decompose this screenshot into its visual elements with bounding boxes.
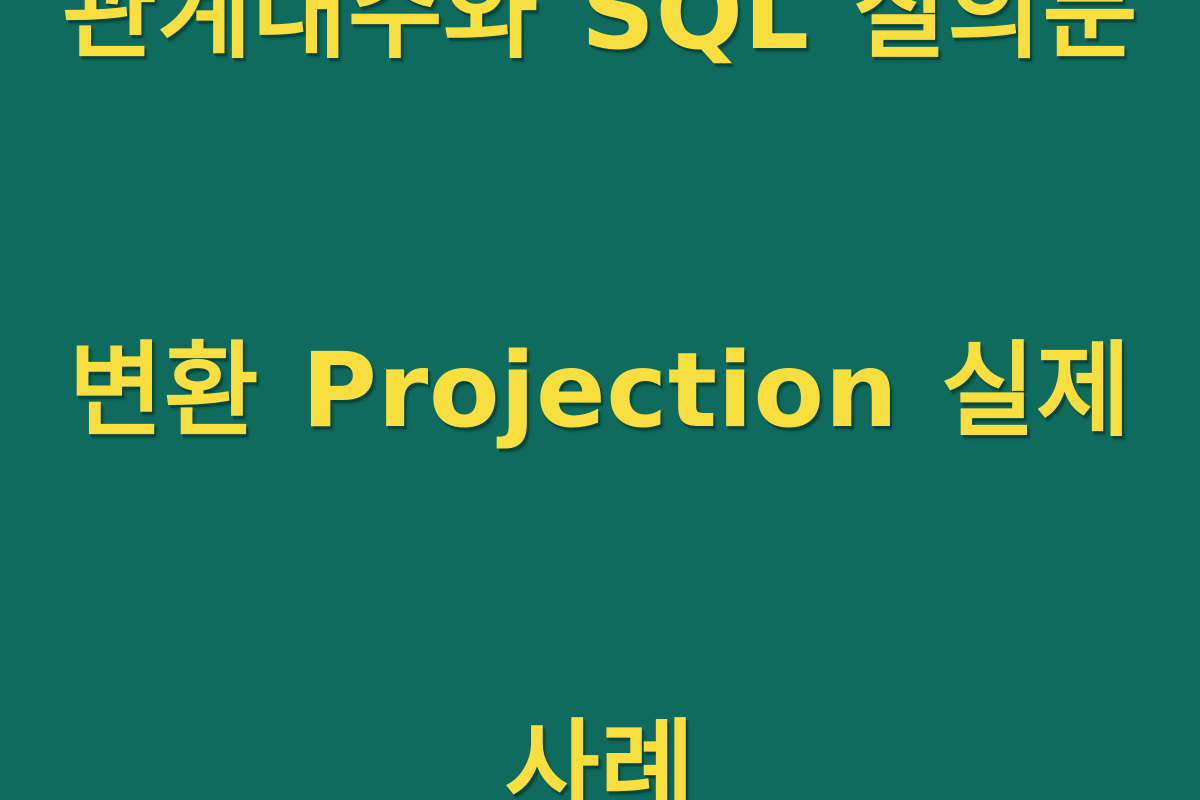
title-line-2: 변환 Projection 실제 <box>60 328 1140 454</box>
title-text-block: 관계대수와 SQL 질의문 변환 Projection 실제 사례 <box>60 0 1140 800</box>
title-line-1: 관계대수와 SQL 질의문 <box>60 0 1140 76</box>
title-line-3: 사례 <box>60 706 1140 800</box>
page-title: 관계대수와 SQL 질의문 변환 Projection 실제 사례 <box>60 0 1140 800</box>
title-card: 관계대수와 SQL 질의문 변환 Projection 실제 사례 <box>0 0 1200 800</box>
